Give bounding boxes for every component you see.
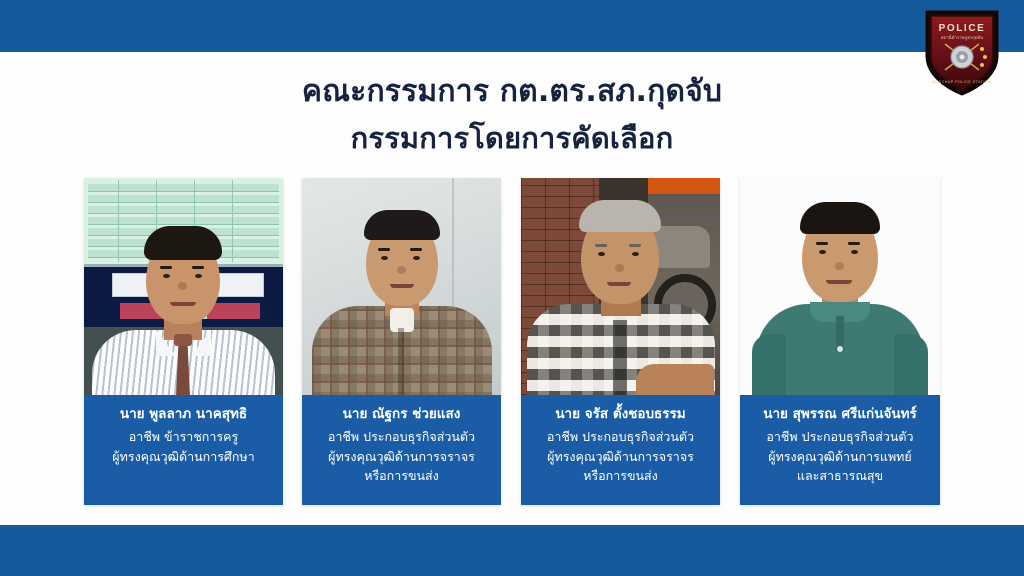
member-name: นาย พูลลาภ นาคสุทธิ [90, 404, 277, 424]
member-detail-2: ผู้ทรงคุณวุฒิด้านการแพทย์ [746, 447, 934, 466]
member-caption: นาย พูลลาภ นาคสุทธิ อาชีพ ข้าราชการครู ผ… [84, 395, 283, 505]
motorcycle [652, 226, 710, 268]
member-detail-3: หรือการขนส่ง [527, 466, 714, 485]
police-badge: POLICE สถานีตำรวจภูธรกุดจับ KUDCHAP POLI… [921, 4, 1003, 96]
member-caption: นาย สุพรรณ ศรีแก่นจันทร์ อาชีพ ประกอบธุร… [740, 395, 940, 505]
member-photo [740, 178, 940, 395]
member-detail-3: หรือการขนส่ง [308, 466, 495, 485]
member-detail-1: อาชีพ ประกอบธุรกิจส่วนตัว [746, 427, 934, 446]
member-card[interactable]: นาย ณัฐกร ช่วยแสง อาชีพ ประกอบธุรกิจส่วน… [302, 178, 501, 505]
badge-station-text: KUDCHAP POLICE STATION [933, 80, 992, 84]
member-name: นาย จรัส ตั้งชอบธรรม [527, 404, 714, 424]
member-detail-2: ผู้ทรงคุณวุฒิด้านการศึกษา [90, 447, 277, 466]
member-name: นาย สุพรรณ ศรีแก่นจันทร์ [746, 404, 934, 424]
badge-thai-subtitle: สถานีตำรวจภูธรกุดจับ [941, 35, 984, 41]
member-detail-3: และสาธารณสุข [746, 466, 934, 485]
member-photo [521, 178, 720, 395]
member-detail-1: อาชีพ ประกอบธุรกิจส่วนตัว [527, 427, 714, 446]
member-photo [84, 178, 283, 395]
page-title-block: คณะกรรมการ กต.ตร.สภ.กุดจับ กรรมการโดยการ… [0, 72, 1024, 158]
member-photo [302, 178, 501, 395]
top-banner-bar [0, 0, 1024, 52]
member-caption: นาย จรัส ตั้งชอบธรรม อาชีพ ประกอบธุรกิจส… [521, 395, 720, 505]
member-detail-2: ผู้ทรงคุณวุฒิด้านการจราจร [308, 447, 495, 466]
member-card[interactable]: นาย พูลลาภ นาคสุทธิ อาชีพ ข้าราชการครู ผ… [84, 178, 283, 505]
page-title: คณะกรรมการ กต.ตร.สภ.กุดจับ [0, 72, 1024, 113]
member-detail-1: อาชีพ ประกอบธุรกิจส่วนตัว [308, 427, 495, 446]
member-caption: นาย ณัฐกร ช่วยแสง อาชีพ ประกอบธุรกิจส่วน… [302, 395, 501, 505]
member-name: นาย ณัฐกร ช่วยแสง [308, 404, 495, 424]
bottom-banner-bar [0, 525, 1024, 576]
member-card-grid: นาย พูลลาภ นาคสุทธิ อาชีพ ข้าราชการครู ผ… [0, 178, 1024, 508]
member-card[interactable]: นาย จรัส ตั้งชอบธรรม อาชีพ ประกอบธุรกิจส… [521, 178, 720, 505]
page-subtitle: กรรมการโดยการคัดเลือก [0, 119, 1024, 158]
member-detail-2: ผู้ทรงคุณวุฒิด้านการจราจร [527, 447, 714, 466]
member-card[interactable]: นาย สุพรรณ ศรีแก่นจันทร์ อาชีพ ประกอบธุร… [740, 178, 940, 505]
member-detail-1: อาชีพ ข้าราชการครู [90, 427, 277, 446]
badge-police-word: POLICE [939, 23, 986, 34]
